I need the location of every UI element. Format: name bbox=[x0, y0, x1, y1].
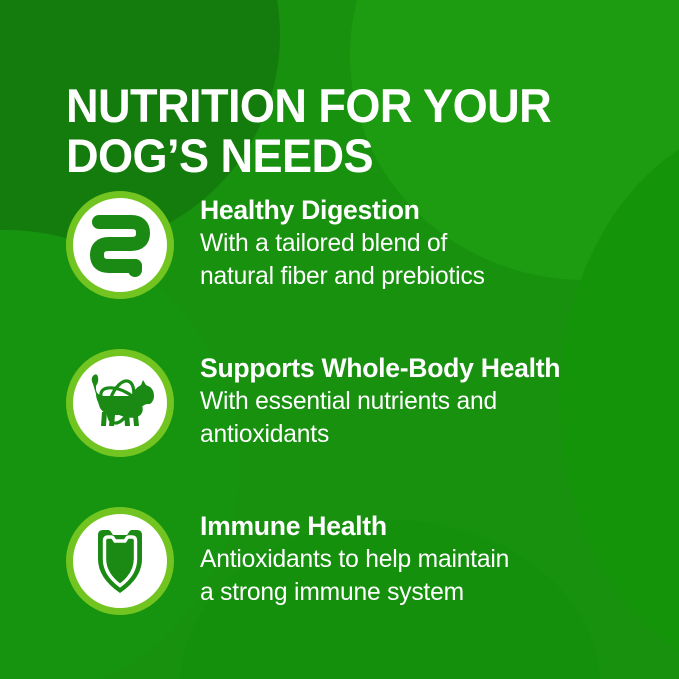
benefit-text-block: Supports Whole-Body Health With essentia… bbox=[174, 344, 679, 451]
benefit-list: Healthy Digestion With a tailored blend … bbox=[0, 186, 679, 660]
benefit-title: Supports Whole-Body Health bbox=[200, 352, 672, 385]
benefit-item-immune-health: Immune Health Antioxidants to help maint… bbox=[0, 502, 679, 660]
nutrition-benefits-poster: NUTRITION FOR YOUR DOG’S NEEDS Healthy D… bbox=[0, 0, 679, 679]
benefit-icon-badge bbox=[66, 507, 174, 615]
benefit-item-whole-body-health: Supports Whole-Body Health With essentia… bbox=[0, 344, 679, 502]
benefit-description-line-2: natural fiber and prebiotics bbox=[200, 260, 672, 293]
benefit-text-block: Healthy Digestion With a tailored blend … bbox=[174, 186, 679, 293]
benefit-description-line-1: With a tailored blend of bbox=[200, 227, 672, 260]
shield-icon bbox=[86, 523, 154, 599]
page-title: NUTRITION FOR YOUR DOG’S NEEDS bbox=[66, 81, 604, 181]
benefit-description-line-1: Antioxidants to help maintain bbox=[200, 543, 672, 576]
benefit-title: Immune Health bbox=[200, 510, 672, 543]
benefit-icon-badge bbox=[66, 349, 174, 457]
page-title-line-2: DOG’S NEEDS bbox=[66, 131, 604, 181]
benefit-description-line-1: With essential nutrients and bbox=[200, 385, 672, 418]
benefit-description: With a tailored blend of natural fiber a… bbox=[200, 227, 672, 293]
benefit-description-line-2: a strong immune system bbox=[200, 576, 672, 609]
dog-orbit-icon bbox=[81, 368, 159, 438]
intestine-icon bbox=[85, 208, 155, 282]
benefit-title: Healthy Digestion bbox=[200, 194, 672, 227]
benefit-icon-badge bbox=[66, 191, 174, 299]
benefit-item-healthy-digestion: Healthy Digestion With a tailored blend … bbox=[0, 186, 679, 344]
page-title-line-1: NUTRITION FOR YOUR bbox=[66, 81, 604, 131]
benefit-text-block: Immune Health Antioxidants to help maint… bbox=[174, 502, 679, 609]
benefit-description-line-2: antioxidants bbox=[200, 418, 672, 451]
benefit-description: With essential nutrients and antioxidant… bbox=[200, 385, 672, 451]
benefit-description: Antioxidants to help maintain a strong i… bbox=[200, 543, 672, 609]
